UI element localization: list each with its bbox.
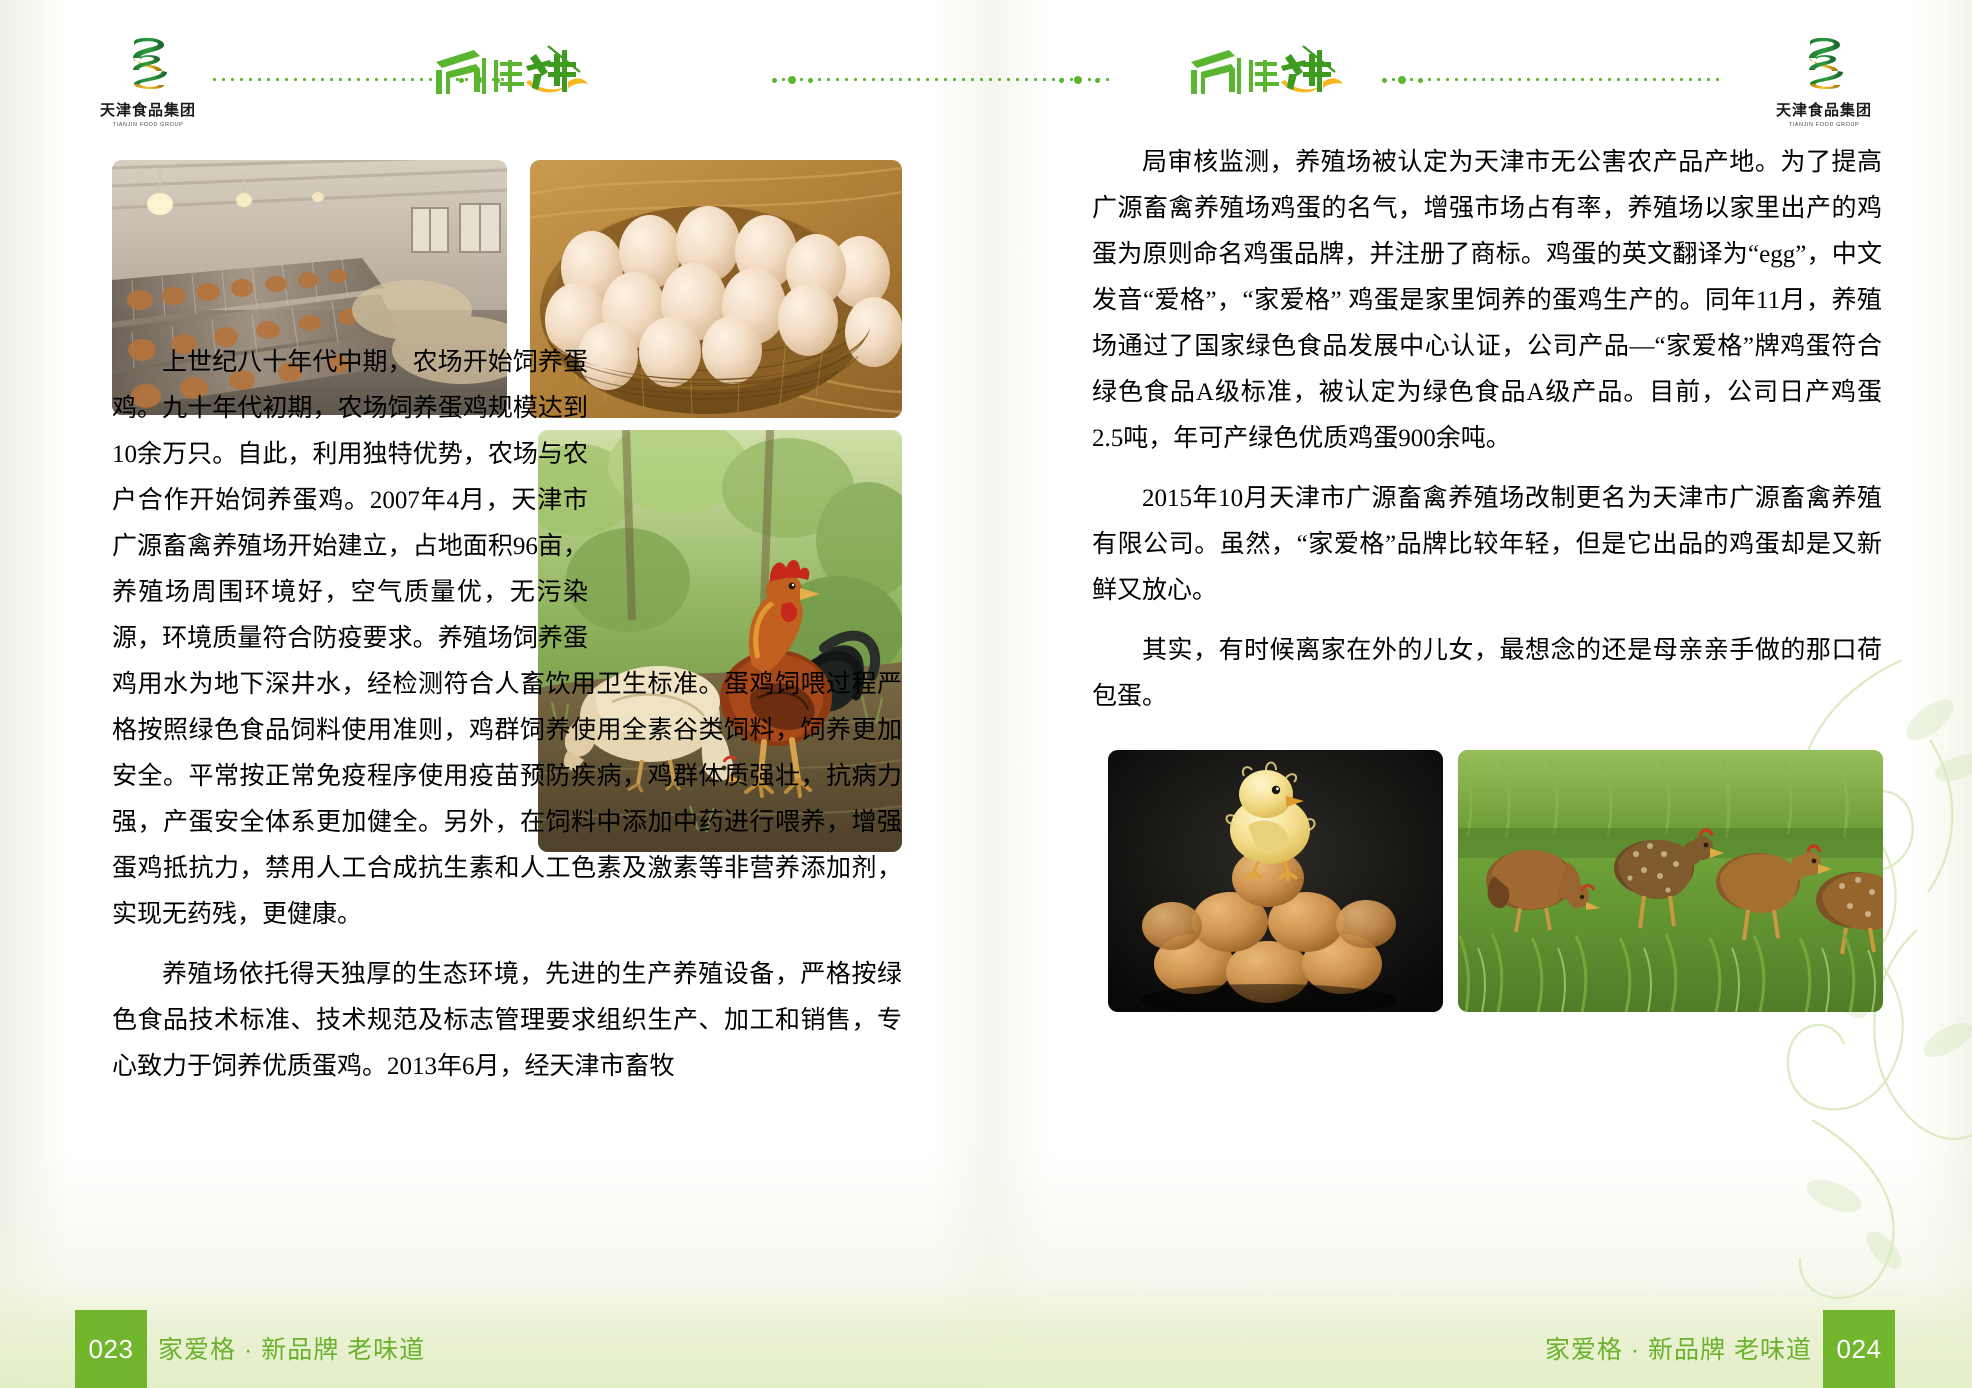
magazine-spread: 天津食品集团 TIANJIN FOOD GROUP bbox=[0, 0, 1972, 1388]
right-paragraph-1: 局审核监测，养殖场被认定为天津市无公害农产品产地。为了提高广源畜禽养殖场鸡蛋的名… bbox=[1092, 140, 1882, 462]
corporate-name-cn-left: 天津食品集团 bbox=[88, 99, 208, 120]
page-edge-shading-right bbox=[1912, 0, 1972, 1388]
free-range-hens-photo bbox=[1458, 750, 1883, 1012]
page-gutter-shading bbox=[930, 0, 1050, 1388]
right-paragraph-2: 2015年10月天津市广源畜禽养殖场改制更名为天津市广源畜禽养殖有限公司。虽然，… bbox=[1092, 476, 1882, 614]
right-column-body: 局审核监测，养殖场被认定为天津市无公害农产品产地。为了提高广源畜禽养殖场鸡蛋的名… bbox=[1092, 140, 1882, 734]
page-header: 天津食品集团 TIANJIN FOOD GROUP bbox=[0, 0, 1972, 128]
left-column-body: 上世纪八十年代中期，农场开始饲养蛋鸡。九十年代初期，农场饲养蛋鸡规模达到10余万… bbox=[112, 340, 902, 1104]
running-title-right: 家爱格 · 新品牌 老味道 bbox=[1545, 1330, 1812, 1366]
chick-on-eggs-photo bbox=[1108, 750, 1443, 1012]
corporate-name-cn-right: 天津食品集团 bbox=[1764, 99, 1884, 120]
page-number-left: 023 bbox=[75, 1310, 147, 1388]
right-paragraph-3: 其实，有时候离家在外的儿女，最想念的还是母亲亲手做的那口荷包蛋。 bbox=[1092, 628, 1882, 720]
corporate-name-en-right: TIANJIN FOOD GROUP bbox=[1764, 122, 1884, 128]
corporate-logo-left: 天津食品集团 TIANJIN FOOD GROUP bbox=[88, 34, 208, 128]
page-edge-shading-left bbox=[0, 0, 70, 1388]
left-paragraph-2: 养殖场依托得天独厚的生态环境，先进的生产养殖设备，严格按绿色食品技术标准、技术规… bbox=[112, 952, 902, 1090]
dotted-line bbox=[1380, 78, 1720, 81]
spiral-ribbon-logo-icon bbox=[120, 34, 176, 96]
rooster-photo-text-wrap bbox=[606, 346, 902, 646]
section-logo-brand-story-right bbox=[1185, 42, 1345, 102]
corporate-logo-right: 天津食品集团 TIANJIN FOOD GROUP bbox=[1764, 34, 1884, 128]
corporate-name-en-left: TIANJIN FOOD GROUP bbox=[88, 122, 208, 128]
footer-right: 024 家爱格 · 新品牌 老味道 bbox=[986, 1280, 1972, 1388]
section-logo-brand-story-left bbox=[430, 42, 590, 102]
footer-left: 023 家爱格 · 新品牌 老味道 bbox=[0, 1280, 986, 1388]
header-dotted-rule-3 bbox=[1380, 75, 1720, 85]
page-number-right: 024 bbox=[1823, 1310, 1895, 1388]
running-title-left: 家爱格 · 新品牌 老味道 bbox=[158, 1330, 425, 1366]
chick-on-eggs-photo-art bbox=[1108, 750, 1443, 1012]
footer-band-left bbox=[0, 1280, 986, 1388]
free-range-hens-photo-art bbox=[1458, 750, 1883, 1012]
spiral-ribbon-logo-icon bbox=[1796, 34, 1852, 96]
header-dotted-rule-2 bbox=[770, 75, 1110, 85]
